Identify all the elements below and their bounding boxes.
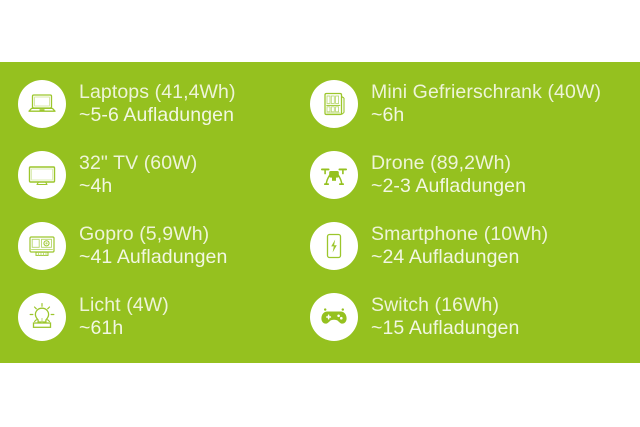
- device-name-and-rating: Drone (89,2Wh): [371, 152, 526, 175]
- device-name-and-rating: Switch (16Wh): [371, 294, 519, 317]
- device-estimate: ~5-6 Aufladungen: [79, 104, 236, 127]
- list-item: Mini Gefrierschrank (40W) ~6h: [300, 68, 640, 139]
- list-item: Smartphone (10Wh) ~24 Aufladungen: [300, 210, 640, 281]
- list-item: Switch (16Wh) ~15 Aufladungen: [300, 281, 640, 352]
- list-item: Gopro (5,9Wh) ~41 Aufladungen: [0, 210, 300, 281]
- lightbulb-icon: [18, 293, 66, 341]
- device-name-and-rating: Mini Gefrierschrank (40W): [371, 81, 601, 104]
- device-list-grid: Laptops (41,4Wh) ~5-6 Aufladungen: [0, 62, 640, 363]
- list-item: Drone (89,2Wh) ~2-3 Aufladungen: [300, 139, 640, 210]
- device-estimate: ~61h: [79, 317, 169, 340]
- device-name-and-rating: Licht (4W): [79, 294, 169, 317]
- list-item: Licht (4W) ~61h: [0, 281, 300, 352]
- list-item-labels: Drone (89,2Wh) ~2-3 Aufladungen: [371, 152, 526, 197]
- list-item: 32" TV (60W) ~4h: [0, 139, 300, 210]
- device-estimate: ~24 Aufladungen: [371, 246, 548, 269]
- laptop-icon: [18, 80, 66, 128]
- device-name-and-rating: Gopro (5,9Wh): [79, 223, 227, 246]
- tv-icon: [18, 151, 66, 199]
- list-item-labels: Gopro (5,9Wh) ~41 Aufladungen: [79, 223, 227, 268]
- list-item-labels: Switch (16Wh) ~15 Aufladungen: [371, 294, 519, 339]
- list-item: Laptops (41,4Wh) ~5-6 Aufladungen: [0, 68, 300, 139]
- mini-fridge-icon: [310, 80, 358, 128]
- list-item-labels: Smartphone (10Wh) ~24 Aufladungen: [371, 223, 548, 268]
- device-estimate: ~6h: [371, 104, 601, 127]
- action-camera-icon: [18, 222, 66, 270]
- device-estimate: ~2-3 Aufladungen: [371, 175, 526, 198]
- device-estimate: ~15 Aufladungen: [371, 317, 519, 340]
- device-name-and-rating: Laptops (41,4Wh): [79, 81, 236, 104]
- device-estimate: ~41 Aufladungen: [79, 246, 227, 269]
- device-estimate: ~4h: [79, 175, 197, 198]
- list-item-labels: Mini Gefrierschrank (40W) ~6h: [371, 81, 601, 126]
- device-name-and-rating: Smartphone (10Wh): [371, 223, 548, 246]
- device-runtime-infographic: Laptops (41,4Wh) ~5-6 Aufladungen: [0, 62, 640, 363]
- smartphone-icon: [310, 222, 358, 270]
- list-item-labels: Laptops (41,4Wh) ~5-6 Aufladungen: [79, 81, 236, 126]
- device-name-and-rating: 32" TV (60W): [79, 152, 197, 175]
- list-item-labels: Licht (4W) ~61h: [79, 294, 169, 339]
- drone-icon: [310, 151, 358, 199]
- list-item-labels: 32" TV (60W) ~4h: [79, 152, 197, 197]
- gamepad-icon: [310, 293, 358, 341]
